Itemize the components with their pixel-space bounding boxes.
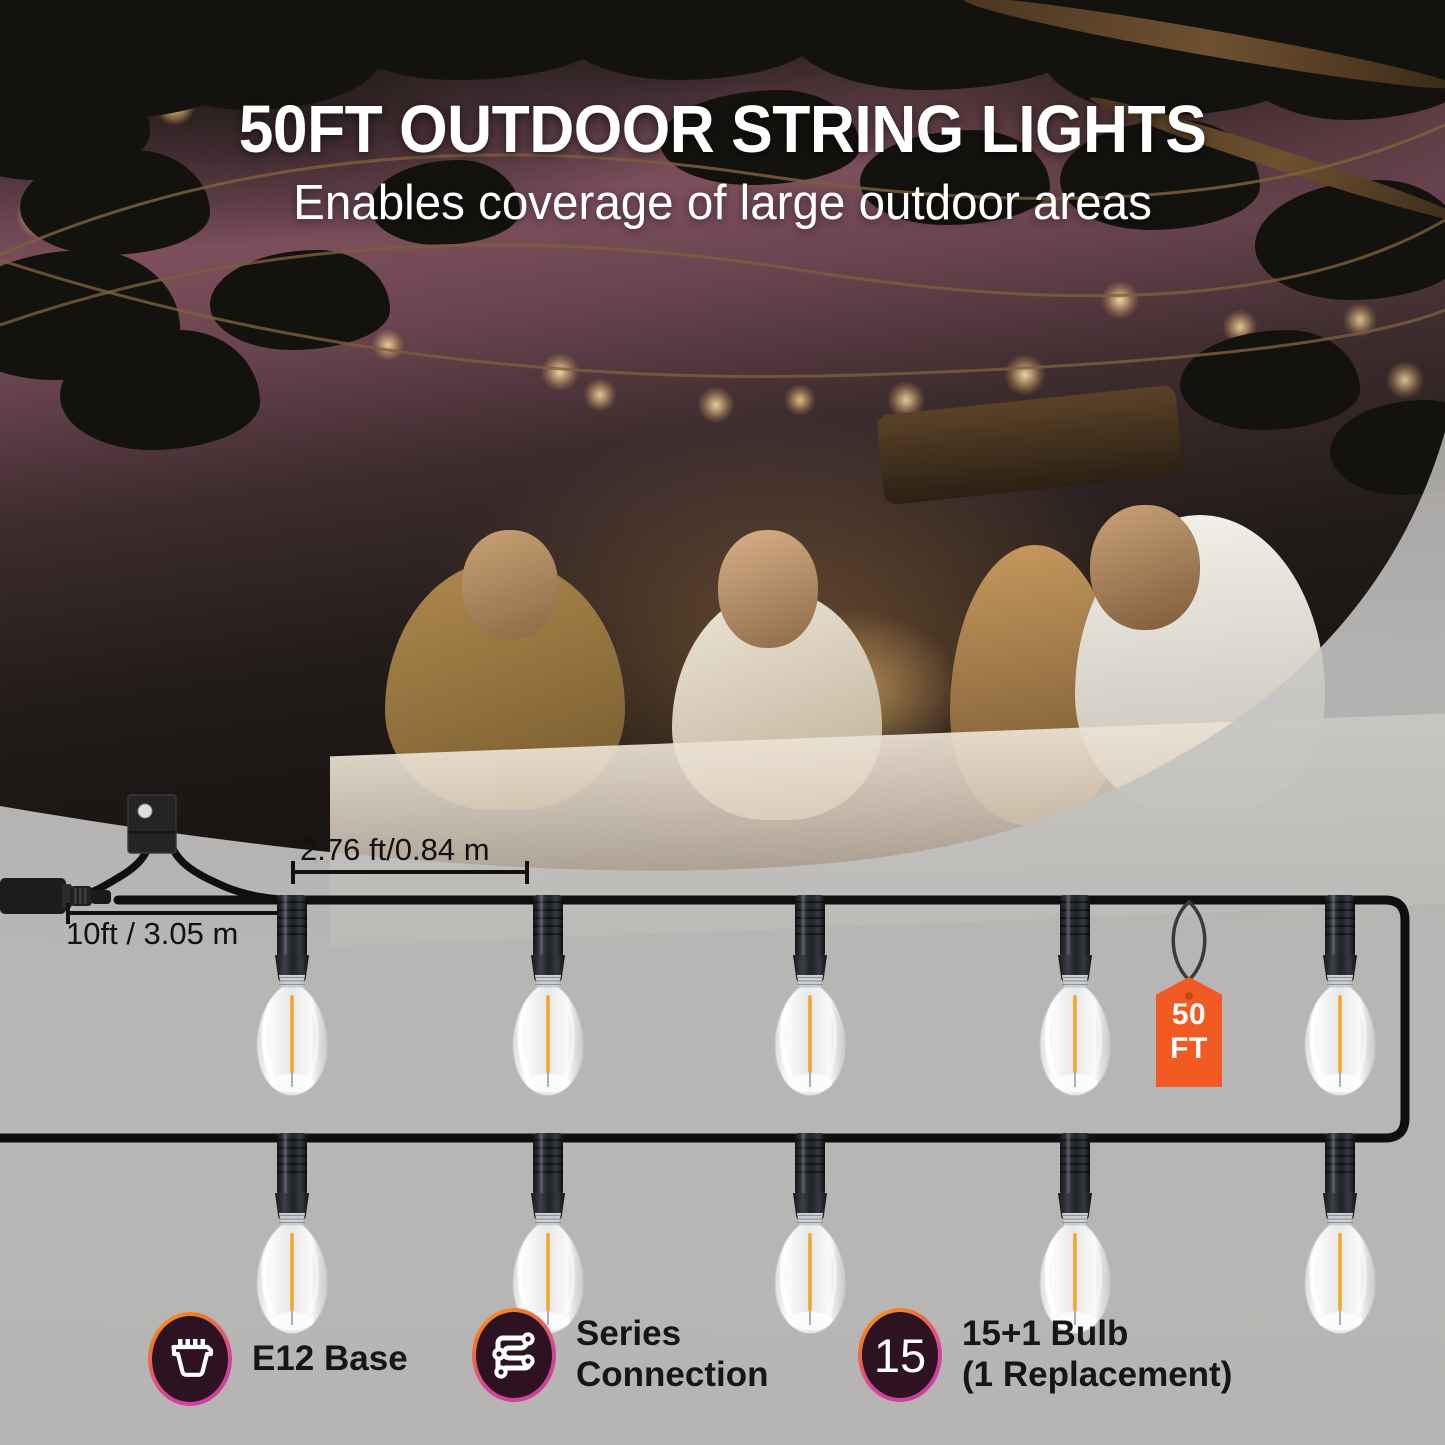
tag-loop-icon <box>1173 902 1205 980</box>
feature-bulb-count: 15 15+1 Bulb (1 Replacement) <box>858 1308 1232 1402</box>
plug-icon <box>0 878 111 914</box>
feature-label: 15+1 Bulb (1 Replacement) <box>962 1314 1232 1395</box>
lamp-base-icon <box>166 1338 214 1380</box>
bulb-icon <box>257 895 327 1095</box>
bulb-icon <box>1305 1133 1375 1333</box>
bulb-icon <box>1305 895 1375 1095</box>
circuit-series-icon <box>490 1330 538 1380</box>
power-adapter-icon <box>128 795 176 853</box>
tag-line-2: FT <box>1170 1032 1208 1066</box>
feature-icon-badge <box>472 1308 556 1402</box>
feature-row: E12 Base Series Connection <box>0 1306 1445 1431</box>
feature-icon-badge: 15 <box>858 1308 942 1402</box>
feature-series-connection: Series Connection <box>472 1308 768 1402</box>
bulb-icon <box>1040 895 1110 1095</box>
feature-e12-base: E12 Base <box>148 1312 408 1406</box>
bulb-icon <box>513 1133 583 1333</box>
product-infographic: 50FT OUTDOOR STRING LIGHTS Enables cover… <box>0 0 1445 1445</box>
count-badge: 15 <box>874 1332 926 1379</box>
feature-label: E12 Base <box>252 1339 408 1380</box>
bulb-icon <box>1040 1133 1110 1333</box>
lead-length-label: 10ft / 3.05 m <box>66 916 238 952</box>
product-diagram: 2.76 ft/0.84 m 10ft / 3.05 m 50 FT <box>0 0 1445 1445</box>
bulb-icon <box>775 895 845 1095</box>
bulb-icon <box>775 1133 845 1333</box>
feature-label: Series Connection <box>576 1314 768 1395</box>
tag-hole <box>1185 992 1193 1000</box>
tag-line-1: 50 <box>1172 998 1206 1032</box>
feature-icon-badge <box>148 1312 232 1406</box>
bulb-icon <box>513 895 583 1095</box>
spacing-label: 2.76 ft/0.84 m <box>300 832 490 868</box>
bulb-icon <box>257 1133 327 1333</box>
